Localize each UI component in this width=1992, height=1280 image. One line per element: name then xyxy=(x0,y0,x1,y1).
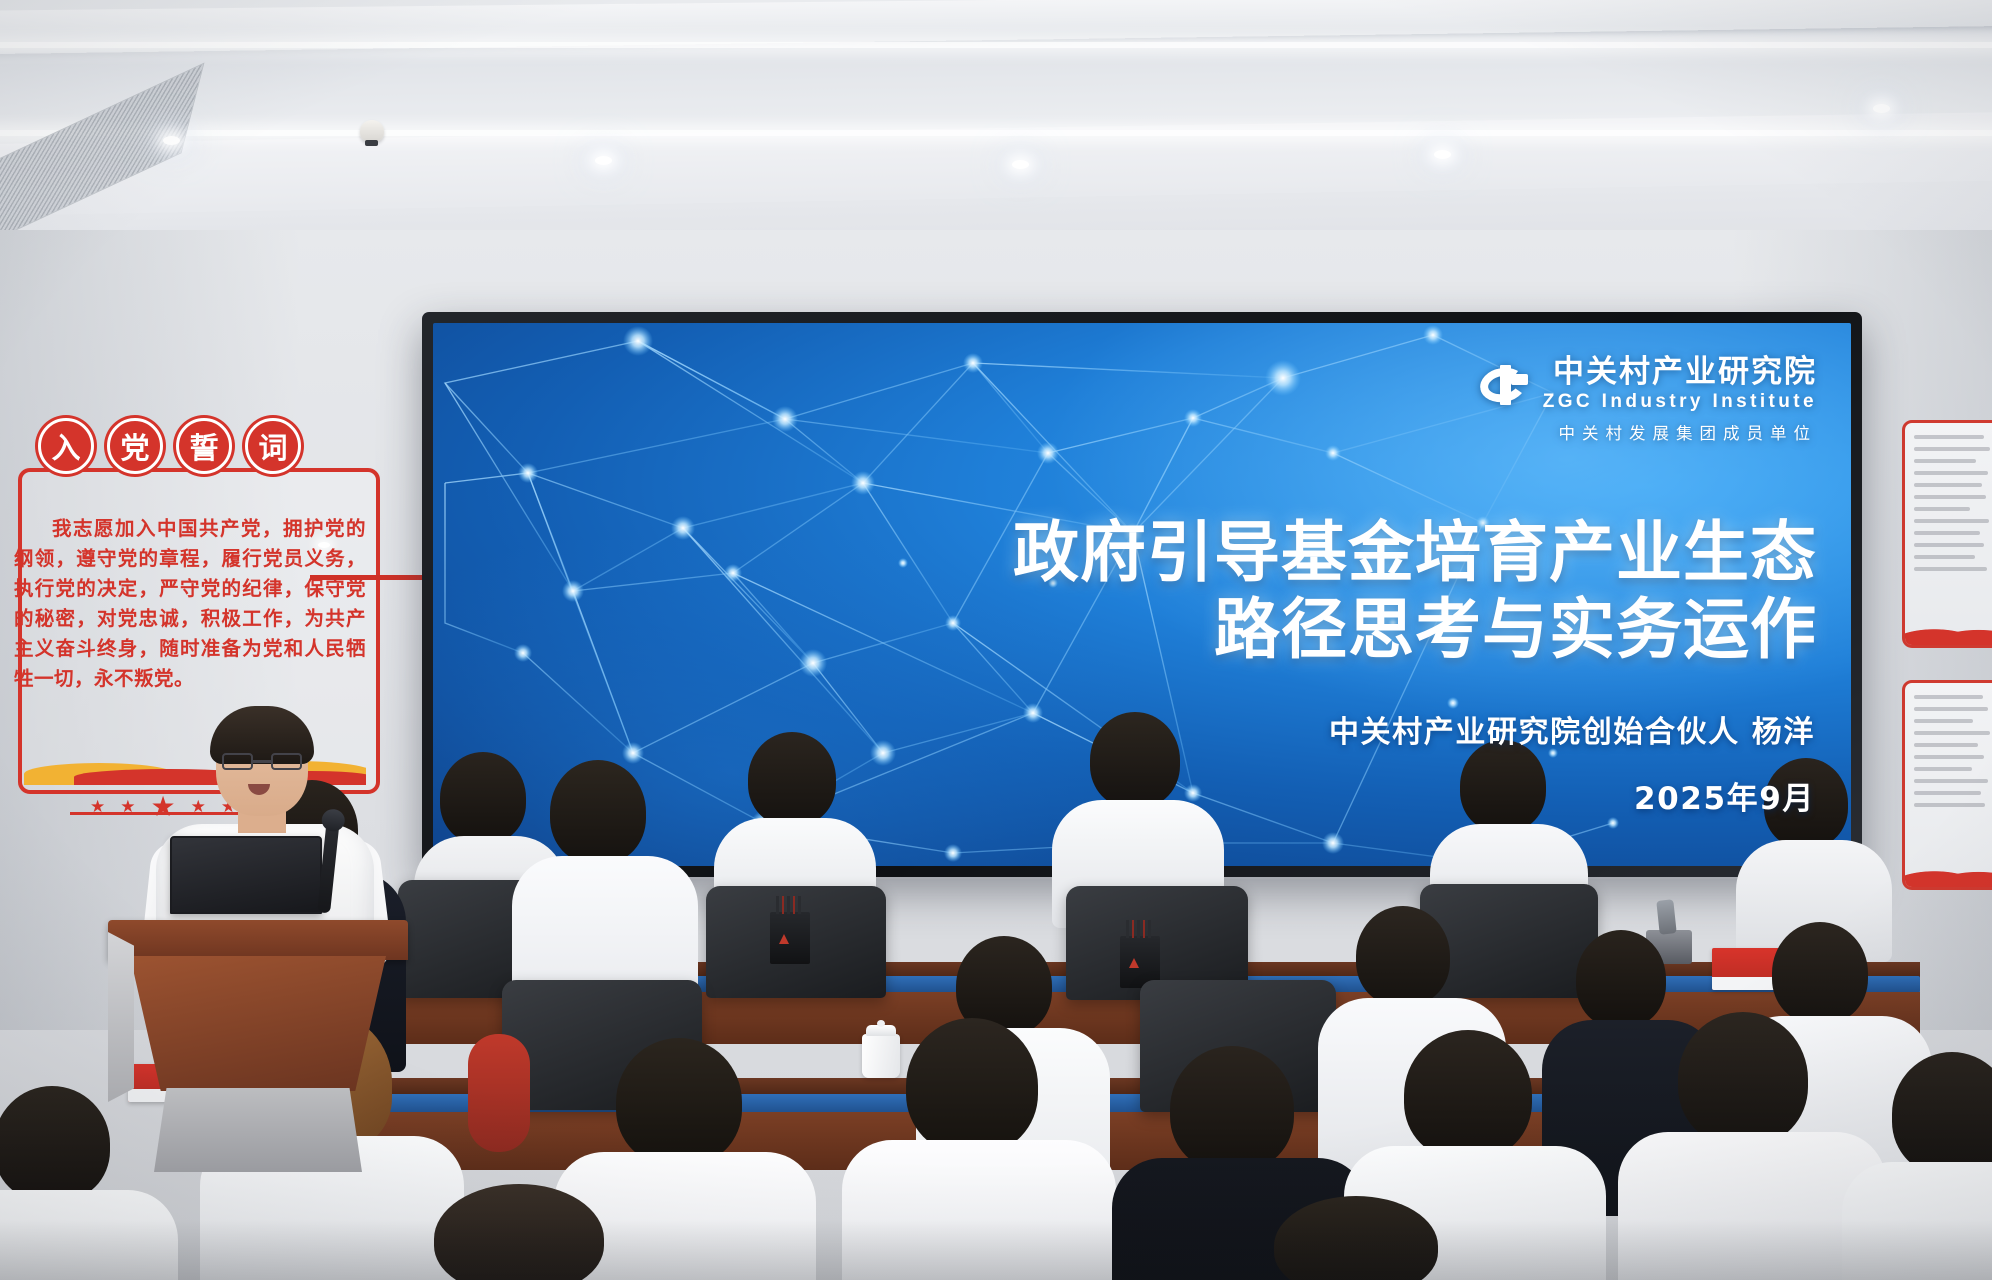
ceiling xyxy=(0,0,1992,250)
pen-holder[interactable] xyxy=(770,912,810,964)
cove-light-2 xyxy=(0,130,1992,136)
slide-title-line1: 政府引导基金培育产业生态 xyxy=(1013,515,1817,592)
slide-presenter: 中关村产业研究院创始合伙人 杨洋 xyxy=(1329,707,1815,751)
zgc-logo: 中关村产业研究院 ZGC Industry Institute 中关村发展集团成… xyxy=(1480,357,1817,444)
foreground-shading xyxy=(0,1220,1992,1280)
poster-heading-char: 誓 xyxy=(176,418,232,474)
conference-room-scene: 入 党 誓 词 我志愿加入中国共产党，拥护党的纲领，遵守党的章程，履行党员义务，… xyxy=(0,0,1992,1280)
slide-title: 政府引导基金培育产业生态 路径思考与实务运作 xyxy=(1013,515,1817,668)
downlight xyxy=(1873,104,1890,113)
hair-highlight-red xyxy=(468,1034,530,1152)
poster-heading-char: 词 xyxy=(245,418,301,474)
slide-date: 2025年9月 xyxy=(1329,773,1815,818)
downlight xyxy=(1434,150,1451,159)
podium-base xyxy=(154,1088,362,1172)
downlight xyxy=(595,156,612,165)
logo-name-cn: 中关村产业研究院 xyxy=(1543,357,1817,388)
podium xyxy=(108,898,408,1178)
glasses-icon xyxy=(222,753,302,770)
poster-heading: 入 党 誓 词 xyxy=(38,418,301,474)
slide-meta: 中关村产业研究院创始合伙人 杨洋 2025年9月 xyxy=(1329,707,1815,818)
downlight xyxy=(1012,160,1029,169)
podium-side xyxy=(108,932,134,1102)
downlight xyxy=(163,136,180,145)
poster-heading-char: 入 xyxy=(38,418,94,474)
lidded-mug[interactable] xyxy=(862,1034,900,1078)
laptop[interactable] xyxy=(170,836,322,914)
cove-light-1 xyxy=(0,42,1992,48)
smoke-detector-icon xyxy=(360,120,384,142)
party-oath-text: 我志愿加入中国共产党，拥护党的纲领，遵守党的章程，履行党员义务，执行党的决定，严… xyxy=(14,514,366,694)
logo-subline: 中关村发展集团成员单位 xyxy=(1480,420,1817,444)
slide-title-line2: 路径思考与实务运作 xyxy=(1013,592,1817,669)
poster-heading-char: 党 xyxy=(107,418,163,474)
podium-body xyxy=(130,956,386,1091)
zgc-logo-mark-icon xyxy=(1480,365,1532,405)
logo-name-en: ZGC Industry Institute xyxy=(1543,391,1817,413)
regulations-panel-bottom xyxy=(1902,680,1992,890)
podium-top xyxy=(108,920,408,960)
regulations-panel-top xyxy=(1902,420,1992,648)
